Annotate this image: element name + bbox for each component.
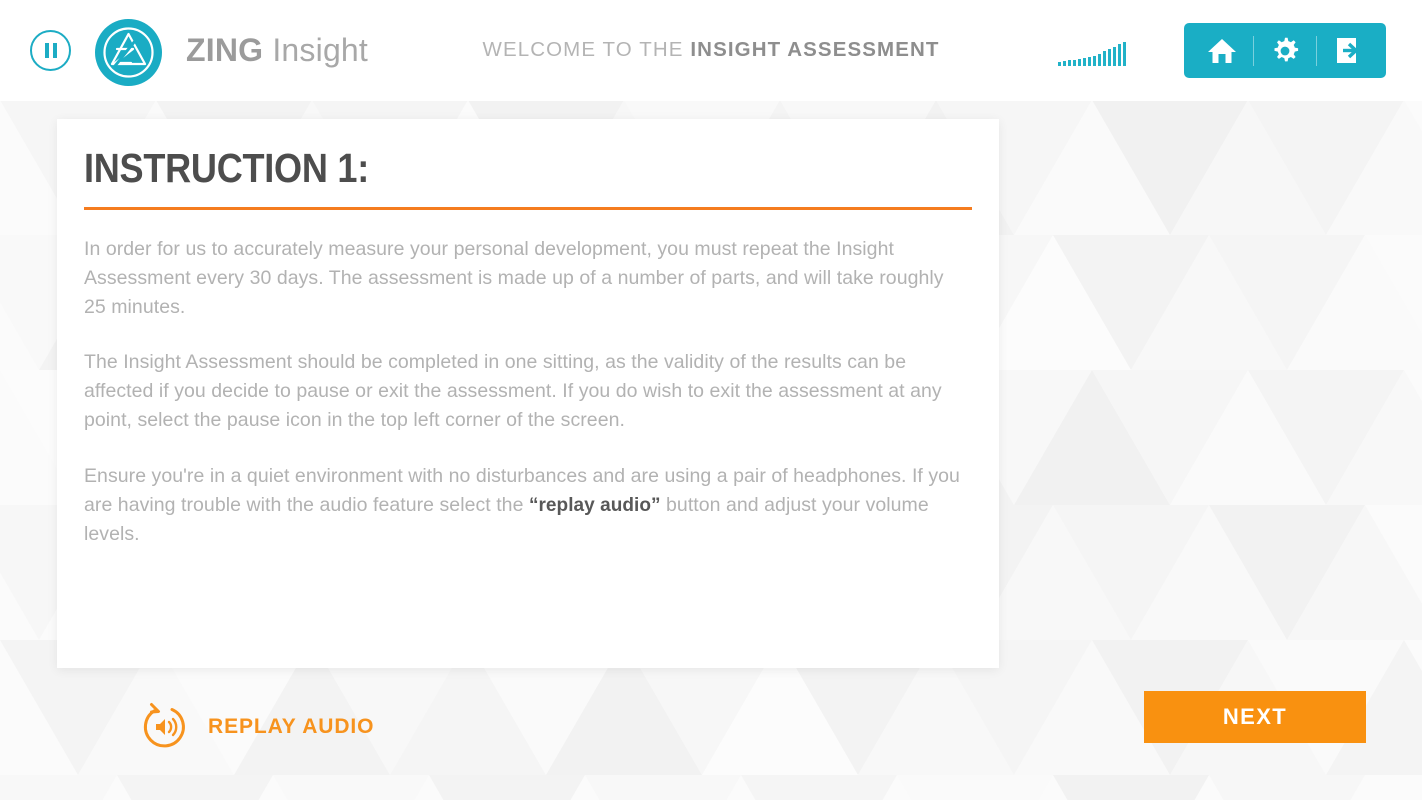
replay-audio-emphasis: “replay audio” (529, 495, 661, 516)
audio-level-bar-0 (1058, 62, 1061, 66)
exit-button[interactable] (1317, 23, 1379, 78)
instruction-paragraph-3: Ensure you're in a quiet environment wit… (84, 462, 970, 549)
app-header: ZING Insight WELCOME TO THE INSIGHT ASSE… (0, 0, 1422, 101)
audio-level-icon (1058, 38, 1126, 66)
audio-level-bar-8 (1098, 54, 1101, 66)
card-title: INSTRUCTION 1: (84, 147, 889, 190)
instruction-paragraph-2: The Insight Assessment should be complet… (84, 348, 970, 434)
audio-level-bar-7 (1093, 56, 1096, 66)
instruction-paragraph-1: In order for us to accurately measure yo… (84, 235, 970, 321)
instruction-card: INSTRUCTION 1: In order for us to accura… (57, 119, 999, 668)
replay-audio-label: REPLAY AUDIO (208, 715, 374, 739)
audio-level-bar-9 (1103, 51, 1106, 66)
audio-level-bar-4 (1078, 59, 1081, 66)
audio-level-bar-2 (1068, 60, 1071, 66)
audio-level-bar-6 (1088, 57, 1091, 66)
card-body: In order for us to accurately measure yo… (84, 235, 970, 549)
replay-audio-button[interactable]: REPLAY AUDIO (141, 702, 374, 752)
welcome-prefix: WELCOME TO THE (483, 38, 684, 61)
gear-icon (1270, 36, 1300, 66)
audio-level-bar-1 (1063, 61, 1066, 66)
next-button[interactable]: NEXT (1144, 691, 1366, 743)
header-action-group (1184, 23, 1386, 78)
audio-level-bar-10 (1108, 49, 1111, 66)
home-icon (1207, 37, 1237, 65)
audio-level-bar-3 (1073, 60, 1076, 66)
assessment-screen: ZING Insight WELCOME TO THE INSIGHT ASSE… (0, 0, 1422, 800)
replay-audio-icon (141, 702, 191, 752)
title-underline (84, 207, 972, 210)
audio-level-bar-5 (1083, 58, 1086, 66)
welcome-assessment-name: INSIGHT ASSESSMENT (690, 38, 939, 61)
home-button[interactable] (1191, 23, 1253, 78)
audio-level-bar-13 (1123, 42, 1126, 66)
audio-level-bar-12 (1118, 44, 1121, 66)
audio-level-bar-11 (1113, 47, 1116, 66)
exit-icon (1334, 36, 1362, 65)
settings-button[interactable] (1254, 23, 1316, 78)
